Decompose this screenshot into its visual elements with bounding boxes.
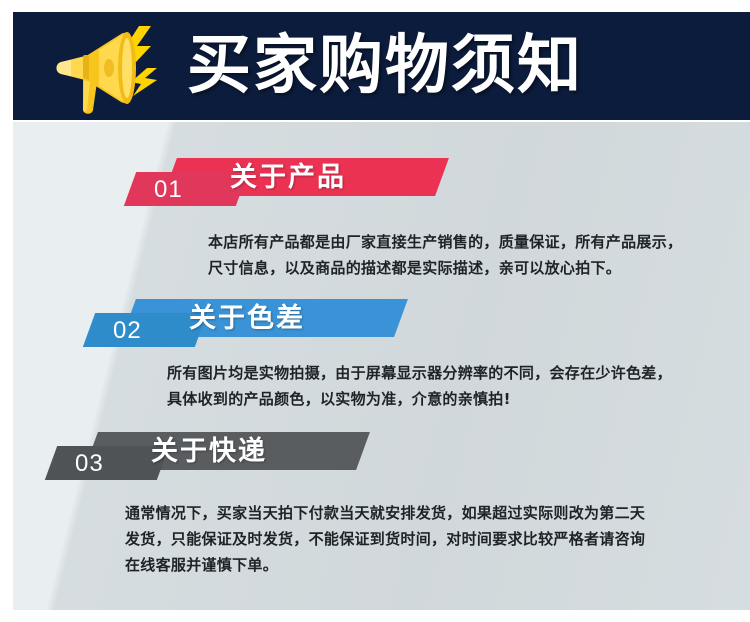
section-number-02: 02 <box>113 316 183 346</box>
section-number-01: 01 <box>154 175 224 205</box>
megaphone-icon <box>43 20 173 116</box>
page-title: 买家购物须知 <box>187 26 583 106</box>
buyer-notice-page: 买家购物须知 01 关于产品 本店所有产品都是由厂家直接生产销售的，质量保证，所… <box>0 0 750 622</box>
section-body-03-line-3: 在线客服并谨慎下单。 <box>125 552 705 578</box>
section-body-03: 通常情况下，买家当天拍下付款当天就安排发货，如果超过实际则改为第二天 发货，只能… <box>125 500 705 578</box>
section-body-01-line-2: 尺寸信息，以及商品的描述都是实际描述，亲可以放心拍下。 <box>208 255 718 281</box>
notice-content: 01 关于产品 本店所有产品都是由厂家直接生产销售的，质量保证，所有产品展示， … <box>13 122 750 610</box>
section-body-03-line-2: 发货，只能保证及时发货，不能保证到货时间，对时间要求比较严格者请咨询 <box>125 526 705 552</box>
section-body-02-line-2: 具体收到的产品颜色，以实物为准，介意的亲慎拍! <box>167 386 707 412</box>
section-body-02: 所有图片均是实物拍摄，由于屏幕显示器分辨率的不同，会存在少许色差， 具体收到的产… <box>167 360 707 412</box>
section-body-02-line-1: 所有图片均是实物拍摄，由于屏幕显示器分辨率的不同，会存在少许色差， <box>167 360 707 386</box>
header-banner: 买家购物须知 <box>13 12 750 120</box>
section-title-01: 关于产品 <box>230 161 346 195</box>
notice-body-panel: 01 关于产品 本店所有产品都是由厂家直接生产销售的，质量保证，所有产品展示， … <box>13 122 750 610</box>
section-number-03: 03 <box>75 449 145 479</box>
section-body-01-line-1: 本店所有产品都是由厂家直接生产销售的，质量保证，所有产品展示， <box>208 229 718 255</box>
section-body-01: 本店所有产品都是由厂家直接生产销售的，质量保证，所有产品展示， 尺寸信息，以及商… <box>208 229 718 281</box>
section-title-02: 关于色差 <box>189 302 305 336</box>
section-title-03: 关于快递 <box>151 435 267 469</box>
section-body-03-line-1: 通常情况下，买家当天拍下付款当天就安排发货，如果超过实际则改为第二天 <box>125 500 705 526</box>
